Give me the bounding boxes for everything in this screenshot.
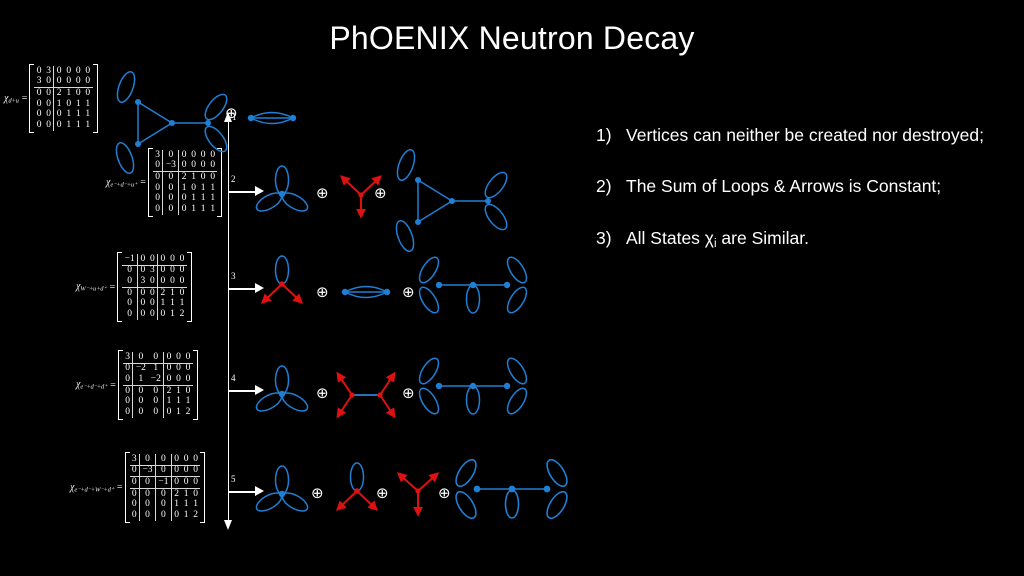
matrix-cell: 0 <box>140 477 156 489</box>
matrix-cell: 0 <box>179 204 189 215</box>
matrix-cell: 1 <box>183 397 193 408</box>
matrix-cell: 0 <box>171 454 181 465</box>
matrix-cell: 0 <box>148 288 158 299</box>
matrix-cell: 0 <box>191 465 201 477</box>
matrix-cell: 0 <box>174 352 184 363</box>
rule-number: 2) <box>596 175 622 198</box>
matrix-cell: −1 <box>122 254 137 265</box>
matrix-cell: 0 <box>140 500 156 511</box>
matrix-cell: 0 <box>64 99 74 110</box>
equals-sign: = <box>139 177 148 188</box>
direct-sum-icon-r2-a: ⊕ <box>316 186 329 201</box>
matrix-row: 00−1000 <box>130 477 201 489</box>
matrix-cell: 0 <box>171 477 181 489</box>
chi-subscript: e⁻+d⁻+d⁺ <box>80 384 107 391</box>
matrix-cell: 0 <box>179 194 189 205</box>
matrix-cell: −3 <box>163 161 179 172</box>
matrix-bracket: 3000000−2100001−2000000210000111000012 <box>118 350 198 420</box>
matrix-cell: 0 <box>122 276 137 287</box>
step-number: 4 <box>231 373 236 383</box>
matrix-cell: 1 <box>174 386 184 397</box>
matrix-cell: 0 <box>155 454 171 465</box>
matrix-cell: 1 <box>181 489 191 500</box>
matrix-cell: 0 <box>191 454 201 465</box>
matrix-cell: 0 <box>171 510 181 521</box>
matrix-cell: 0 <box>148 309 158 320</box>
matrix-cell: 1 <box>133 374 148 385</box>
matrix-row: 000012 <box>123 407 193 418</box>
matrix-cell: 1 <box>208 204 218 215</box>
matrix-cell: 0 <box>208 172 218 183</box>
matrix-cell: 0 <box>181 465 191 477</box>
matrix-cell: 3 <box>130 454 140 465</box>
matrix-cell: 0 <box>54 120 64 131</box>
matrix-cell: 0 <box>198 172 208 183</box>
matrix-cell: 0 <box>123 363 133 374</box>
matrix-cell: 0 <box>64 77 74 88</box>
matrix-cell: 0 <box>148 352 163 363</box>
matrix-cell: 0 <box>191 489 201 500</box>
matrix-cell: 0 <box>208 161 218 172</box>
matrix-cell: 0 <box>54 77 64 88</box>
matrix-cell: 1 <box>158 299 168 310</box>
matrix-row: 000111 <box>123 397 193 408</box>
direct-sum-icon-r3-b: ⊕ <box>402 285 415 300</box>
matrix-cell: 0 <box>183 386 193 397</box>
matrix-cell: 0 <box>164 374 174 385</box>
matrix-cell: 0 <box>138 254 148 265</box>
matrix-cell: 0 <box>181 454 191 465</box>
matrix-cell: 0 <box>133 397 148 408</box>
matrix-cell: 2 <box>183 407 193 418</box>
matrix-cell: 1 <box>171 500 181 511</box>
matrix-cell: 0 <box>155 510 171 521</box>
matrix-cell: 0 <box>73 77 83 88</box>
chi-subscript: e⁻+d⁻+u⁺ <box>110 181 137 188</box>
matrix-cell: 0 <box>177 254 187 265</box>
direct-sum-icon-r5-a: ⊕ <box>311 486 324 501</box>
matrix-cell: 0 <box>44 99 54 110</box>
equals-sign: = <box>21 93 30 104</box>
matrix-cell: 0 <box>138 299 148 310</box>
matrix-cell: −2 <box>148 374 163 385</box>
matrix-cell: 1 <box>168 299 178 310</box>
matrix-cell: 1 <box>73 120 83 131</box>
matrix-cell: 0 <box>44 110 54 121</box>
matrix-row: 000012 <box>130 510 201 521</box>
matrix-cell: 0 <box>164 363 174 374</box>
matrix-cell: 1 <box>83 99 93 110</box>
rule-text-after: are Similar. <box>717 228 809 248</box>
matrix-cell: 1 <box>83 110 93 121</box>
matrix-row: 0−30000 <box>153 161 218 172</box>
matrix-cell: 0 <box>130 465 140 477</box>
matrix-cell: 0 <box>140 454 156 465</box>
rule-number: 1) <box>596 124 622 147</box>
matrix-cell: 2 <box>158 288 168 299</box>
matrix-cell: 1 <box>64 88 74 99</box>
matrix-cell: 0 <box>177 276 187 287</box>
matrix-cell: 0 <box>177 288 187 299</box>
arrow-down-head-icon <box>224 520 232 530</box>
matrix-cell: 1 <box>148 363 163 374</box>
matrix-cell: 0 <box>122 288 137 299</box>
matrix-row: 000111 <box>153 204 218 215</box>
matrix-cell: 1 <box>168 309 178 320</box>
matrix-cell: 1 <box>73 110 83 121</box>
equals-sign: = <box>109 380 118 391</box>
matrix-row: 001011 <box>153 183 218 194</box>
matrix-cell: 0 <box>133 407 148 418</box>
matrix-cell: 0 <box>83 66 93 77</box>
matrix-cell: 1 <box>174 407 184 418</box>
matrix-cell: 0 <box>130 489 140 500</box>
matrix-cell: 0 <box>155 489 171 500</box>
branch-shaft <box>228 191 255 193</box>
matrix-cell: 3 <box>44 66 54 77</box>
matrix-cell: 0 <box>73 88 83 99</box>
matrix-row: 000111 <box>34 120 92 131</box>
matrix-cell: 0 <box>148 407 163 418</box>
matrix-cell: 1 <box>174 397 184 408</box>
matrix-cell: 0 <box>34 88 44 99</box>
diagram-row-4-term-3 <box>421 357 525 425</box>
matrix-cell: 0 <box>171 465 181 477</box>
matrix-cell: −1 <box>155 477 171 489</box>
matrix-cell: 0 <box>163 204 179 215</box>
matrix-cell: 0 <box>155 465 171 477</box>
matrix-cell: 0 <box>123 397 133 408</box>
chi-subscript: W⁻+u+d⁺ <box>80 286 106 293</box>
direct-sum-icon-r2-b: ⊕ <box>374 186 387 201</box>
matrix-cell: 1 <box>54 99 64 110</box>
matrix-cell: 1 <box>191 500 201 511</box>
matrix-cell: 0 <box>44 88 54 99</box>
matrix-table: 3000000−30000002100001011000111000111 <box>153 150 218 215</box>
rule-text: Vertices can neither be created nor dest… <box>626 124 1008 147</box>
matrix-cell: 1 <box>64 110 74 121</box>
matrix-cell: 3 <box>138 276 148 287</box>
matrix-cell: 0 <box>34 99 44 110</box>
matrix-cell: 0 <box>122 309 137 320</box>
diagram-row-3-term-1 <box>254 258 310 310</box>
matrix-cell: 0 <box>181 477 191 489</box>
branch-shaft <box>228 390 255 392</box>
matrix-cell: 0 <box>148 254 158 265</box>
matrix-row: 003000 <box>122 265 187 276</box>
matrix-cell: 0 <box>34 110 44 121</box>
matrix-row: 300000 <box>34 77 92 88</box>
matrix-cell: 1 <box>177 299 187 310</box>
matrix-cell: 0 <box>148 397 163 408</box>
matrix-cell: 0 <box>158 276 168 287</box>
matrix-chi-1: χd+u = 030000300000002100001011000111000… <box>4 64 98 133</box>
rule-number: 3) <box>596 227 622 250</box>
matrix-cell: 2 <box>177 309 187 320</box>
matrix-row: 002100 <box>153 172 218 183</box>
matrix-cell: 0 <box>148 276 158 287</box>
matrix-row: 300000 <box>123 352 193 363</box>
direct-sum-icon-r4-a: ⊕ <box>316 386 329 401</box>
matrix-cell: 0 <box>163 194 179 205</box>
matrix-cell: 1 <box>208 183 218 194</box>
branch-shaft <box>228 491 255 493</box>
matrix-label: χe⁻+d⁻+d⁺ <box>76 379 109 390</box>
matrix-cell: 1 <box>198 183 208 194</box>
matrix-bracket: −100000003000030000000210000111000012 <box>117 252 192 322</box>
list-item: 3) All States χi are Similar. <box>596 227 1008 253</box>
matrix-chi-3: χW⁻+u+d⁺ = −1000000030000300000002100001… <box>76 252 192 322</box>
matrix-table: 3000000−2100001−2000000210000111000012 <box>123 352 193 418</box>
matrix-cell: 0 <box>189 161 199 172</box>
matrix-label: χW⁻+u+d⁺ <box>76 281 109 292</box>
matrix-cell: 1 <box>73 99 83 110</box>
matrix-cell: 0 <box>174 363 184 374</box>
matrix-row: 000210 <box>123 386 193 397</box>
matrix-cell: 1 <box>64 120 74 131</box>
matrix-cell: 0 <box>54 66 64 77</box>
matrix-cell: 0 <box>54 110 64 121</box>
diagram-row-5-term-1 <box>256 470 308 518</box>
matrix-cell: 0 <box>123 374 133 385</box>
matrix-cell: 0 <box>177 265 187 276</box>
matrix-cell: 0 <box>138 265 148 276</box>
matrix-cell: 1 <box>189 204 199 215</box>
matrix-cell: 0 <box>153 204 163 215</box>
diagram-row-4-term-1 <box>256 370 308 418</box>
matrix-row: 001011 <box>34 99 92 110</box>
matrix-chi-2: χe⁻+d⁻+u⁺ = 3000000−30000002100001011000… <box>106 148 222 217</box>
diagram-row-5-term-3 <box>394 466 442 520</box>
matrix-cell: 0 <box>133 386 148 397</box>
matrix-cell: 1 <box>198 204 208 215</box>
matrix-cell: 1 <box>168 288 178 299</box>
rule-text: The Sum of Loops & Arrows is Constant; <box>626 175 1008 198</box>
matrix-cell: 0 <box>163 183 179 194</box>
matrix-cell: 3 <box>148 265 158 276</box>
diagram-row-1-term-2 <box>243 104 301 132</box>
list-item: 2) The Sum of Loops & Arrows is Constant… <box>596 175 1008 198</box>
matrix-cell: 2 <box>191 510 201 521</box>
matrix-cell: 1 <box>179 183 189 194</box>
matrix-cell: 1 <box>181 510 191 521</box>
matrix-cell: −3 <box>140 465 156 477</box>
matrix-row: 0−21000 <box>123 363 193 374</box>
matrix-cell: 1 <box>198 194 208 205</box>
matrix-cell: 0 <box>34 66 44 77</box>
matrix-cell: 0 <box>138 309 148 320</box>
matrix-row: 0−30000 <box>130 465 201 477</box>
chi-subscript: e⁻+d⁻+W⁻+d⁺ <box>74 486 113 493</box>
matrix-row: 300000 <box>130 454 201 465</box>
timeline-shaft <box>228 120 230 522</box>
diagram-row-3-term-3 <box>421 256 525 324</box>
matrix-row: 000111 <box>153 194 218 205</box>
matrix-cell: 0 <box>133 352 148 363</box>
matrix-cell: 0 <box>73 66 83 77</box>
matrix-cell: 1 <box>83 120 93 131</box>
direct-sum-icon-r1: ⊕ <box>225 106 238 121</box>
chi-subscript: d+u <box>8 97 18 104</box>
branch-shaft <box>228 288 255 290</box>
diagram-row-3-term-2 <box>337 278 395 306</box>
diagram-row-5-term-4 <box>457 458 565 528</box>
matrix-label: χd+u <box>4 93 21 104</box>
matrix-row: 000210 <box>130 489 201 500</box>
matrix-bracket: 030000300000002100001011000111000111 <box>29 64 97 133</box>
matrix-cell: 0 <box>153 194 163 205</box>
matrix-cell: 0 <box>130 477 140 489</box>
chi-symbol: χ <box>705 228 714 248</box>
matrix-row: 030000 <box>122 276 187 287</box>
rule-text: All States χi are Similar. <box>626 227 1008 253</box>
direct-sum-icon-r3-a: ⊕ <box>316 285 329 300</box>
step-number: 5 <box>231 474 236 484</box>
matrix-cell: 0 <box>198 161 208 172</box>
matrix-cell: 0 <box>153 172 163 183</box>
matrix-cell: 0 <box>179 161 189 172</box>
equals-sign: = <box>116 482 125 493</box>
matrix-cell: 0 <box>183 363 193 374</box>
matrix-cell: 3 <box>123 352 133 363</box>
rules-list: 1) Vertices can neither be created nor d… <box>596 124 1008 281</box>
matrix-row: 000111 <box>122 299 187 310</box>
matrix-cell: 0 <box>140 489 156 500</box>
matrix-cell: 0 <box>123 407 133 418</box>
matrix-cell: −2 <box>133 363 148 374</box>
matrix-cell: 0 <box>64 66 74 77</box>
matrix-cell: 3 <box>34 77 44 88</box>
matrix-cell: 0 <box>174 374 184 385</box>
matrix-row: 030000 <box>34 66 92 77</box>
matrix-label: χe⁻+d⁻+u⁺ <box>106 177 139 188</box>
matrix-cell: 0 <box>153 161 163 172</box>
matrix-cell: 0 <box>83 88 93 99</box>
step-number: 3 <box>231 271 236 281</box>
matrix-row: −100000 <box>122 254 187 265</box>
matrix-cell: 0 <box>168 254 178 265</box>
matrix-label: χe⁻+d⁻+W⁻+d⁺ <box>70 482 116 493</box>
diagram-row-1-term-1 <box>112 70 220 152</box>
matrix-row: 000111 <box>34 110 92 121</box>
matrix-cell: 0 <box>148 386 163 397</box>
matrix-cell: 0 <box>164 352 174 363</box>
matrix-cell: 0 <box>140 510 156 521</box>
matrix-cell: 0 <box>163 172 179 183</box>
matrix-cell: 0 <box>44 120 54 131</box>
matrix-cell: 0 <box>158 265 168 276</box>
matrix-cell: 2 <box>164 386 174 397</box>
matrix-table: −100000003000030000000210000111000012 <box>122 254 187 320</box>
matrix-row: 000111 <box>130 500 201 511</box>
matrix-bracket: 3000000−30000002100001011000111000111 <box>148 148 223 217</box>
page-title: PhOENIX Neutron Decay <box>0 20 1024 57</box>
matrix-cell: 0 <box>138 288 148 299</box>
matrix-cell: 0 <box>168 276 178 287</box>
diagram-row-2-term-3 <box>392 160 500 242</box>
rule-text-before: All States <box>626 228 705 248</box>
matrix-bracket: 3000000−3000000−1000000210000111000012 <box>125 452 206 523</box>
slide-canvas: PhOENIX Neutron Decay 1) Vertices can ne… <box>0 0 1024 576</box>
matrix-cell: 0 <box>164 407 174 418</box>
matrix-cell: 0 <box>189 183 199 194</box>
matrix-cell: 1 <box>208 194 218 205</box>
matrix-table: 3000000−3000000−1000000210000111000012 <box>130 454 201 521</box>
matrix-cell: 2 <box>171 489 181 500</box>
matrix-chi-4: χe⁻+d⁻+d⁺ = 3000000−2100001−200000021000… <box>76 350 198 420</box>
diagram-row-4-term-2 <box>333 366 399 424</box>
matrix-row: 000012 <box>122 309 187 320</box>
matrix-cell: 0 <box>122 265 137 276</box>
list-item: 1) Vertices can neither be created nor d… <box>596 124 1008 147</box>
matrix-cell: 0 <box>155 500 171 511</box>
matrix-cell: 0 <box>158 254 168 265</box>
matrix-cell: 1 <box>164 397 174 408</box>
matrix-row: 000210 <box>122 288 187 299</box>
matrix-cell: 1 <box>189 194 199 205</box>
matrix-cell: 0 <box>130 510 140 521</box>
diagram-row-2-term-1 <box>256 170 308 218</box>
matrix-cell: 0 <box>183 352 193 363</box>
matrix-cell: 0 <box>83 77 93 88</box>
direct-sum-icon-r5-c: ⊕ <box>438 486 451 501</box>
matrix-cell: 1 <box>189 172 199 183</box>
matrix-cell: 2 <box>179 172 189 183</box>
matrix-cell: 0 <box>153 183 163 194</box>
matrix-cell: 1 <box>181 500 191 511</box>
timeline-axis <box>227 112 230 530</box>
step-number: 2 <box>231 174 236 184</box>
matrix-row: 002100 <box>34 88 92 99</box>
matrix-table: 030000300000002100001011000111000111 <box>34 66 92 131</box>
matrix-cell: 0 <box>122 299 137 310</box>
matrix-cell: 0 <box>130 500 140 511</box>
matrix-cell: 0 <box>168 265 178 276</box>
direct-sum-icon-r5-b: ⊕ <box>376 486 389 501</box>
matrix-cell: 0 <box>148 299 158 310</box>
equals-sign: = <box>109 282 118 293</box>
matrix-row: 01−2000 <box>123 374 193 385</box>
matrix-cell: 0 <box>158 309 168 320</box>
matrix-cell: 0 <box>34 120 44 131</box>
matrix-cell: 0 <box>183 374 193 385</box>
matrix-cell: 2 <box>54 88 64 99</box>
matrix-cell: 0 <box>44 77 54 88</box>
direct-sum-icon-r4-b: ⊕ <box>402 386 415 401</box>
matrix-cell: 0 <box>123 386 133 397</box>
matrix-cell: 0 <box>191 477 201 489</box>
matrix-chi-5: χe⁻+d⁻+W⁻+d⁺ = 3000000−3000000−100000021… <box>70 452 205 523</box>
